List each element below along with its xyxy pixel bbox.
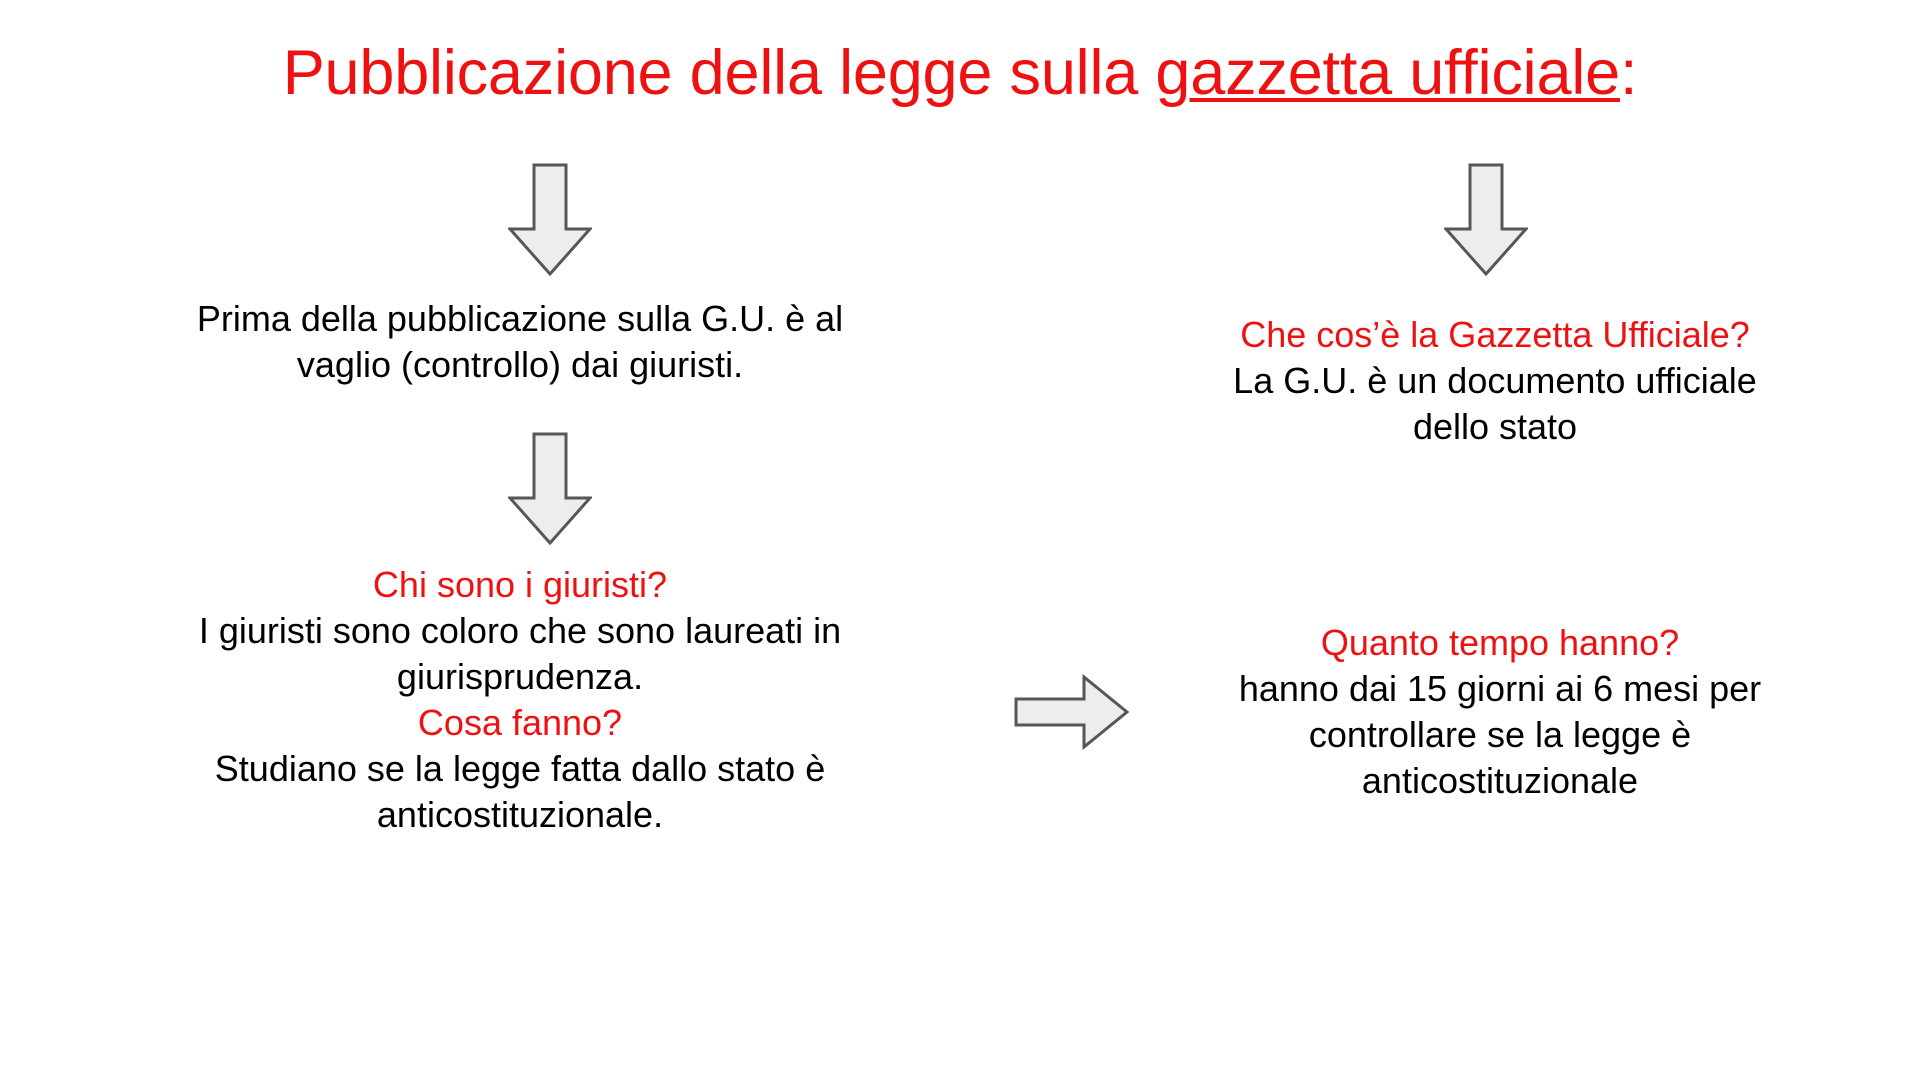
- text-block-prima-pubblicazione: Prima della pubblicazione sulla G.U. è a…: [170, 296, 870, 388]
- text-block-quanto-tempo: Quanto tempo hanno? hanno dai 15 giorni …: [1180, 620, 1820, 804]
- slide-canvas: Pubblicazione della legge sulla gazzetta…: [0, 0, 1920, 1080]
- page-title: Pubblicazione della legge sulla gazzetta…: [0, 38, 1920, 109]
- arrow-down-icon: [508, 163, 592, 277]
- arrow-down-icon: [1444, 163, 1528, 277]
- body-line: Prima della pubblicazione sulla G.U. è a…: [170, 296, 870, 342]
- arrow-down-icon: [508, 432, 592, 546]
- text-block-gazzetta-ufficiale: Che cos’è la Gazzetta Ufficiale? La G.U.…: [1175, 312, 1815, 450]
- block-heading-secondary: Cosa fanno?: [170, 700, 870, 746]
- body-line: dello stato: [1175, 404, 1815, 450]
- body-line: La G.U. è un documento ufficiale: [1175, 358, 1815, 404]
- body-line: vaglio (controllo) dai giuristi.: [170, 342, 870, 388]
- body-line: anticostituzionale: [1180, 758, 1820, 804]
- block-heading: Chi sono i giuristi?: [170, 562, 870, 608]
- text-block-giuristi: Chi sono i giuristi? I giuristi sono col…: [170, 562, 870, 838]
- body-line: controllare se la legge è: [1180, 712, 1820, 758]
- body-line: hanno dai 15 giorni ai 6 mesi per: [1180, 666, 1820, 712]
- body-line: giurisprudenza.: [170, 654, 870, 700]
- arrow-right-icon: [1014, 674, 1130, 750]
- block-heading: Che cos’è la Gazzetta Ufficiale?: [1175, 312, 1815, 358]
- body-line: I giuristi sono coloro che sono laureati…: [170, 608, 870, 654]
- block-heading: Quanto tempo hanno?: [1180, 620, 1820, 666]
- body-line: anticostituzionale.: [170, 792, 870, 838]
- title-prefix: Pubblicazione della legge sulla: [283, 38, 1156, 108]
- body-line: Studiano se la legge fatta dallo stato è: [170, 746, 870, 792]
- title-suffix: :: [1620, 38, 1637, 108]
- title-underlined-term: gazzetta ufficiale: [1155, 38, 1620, 108]
